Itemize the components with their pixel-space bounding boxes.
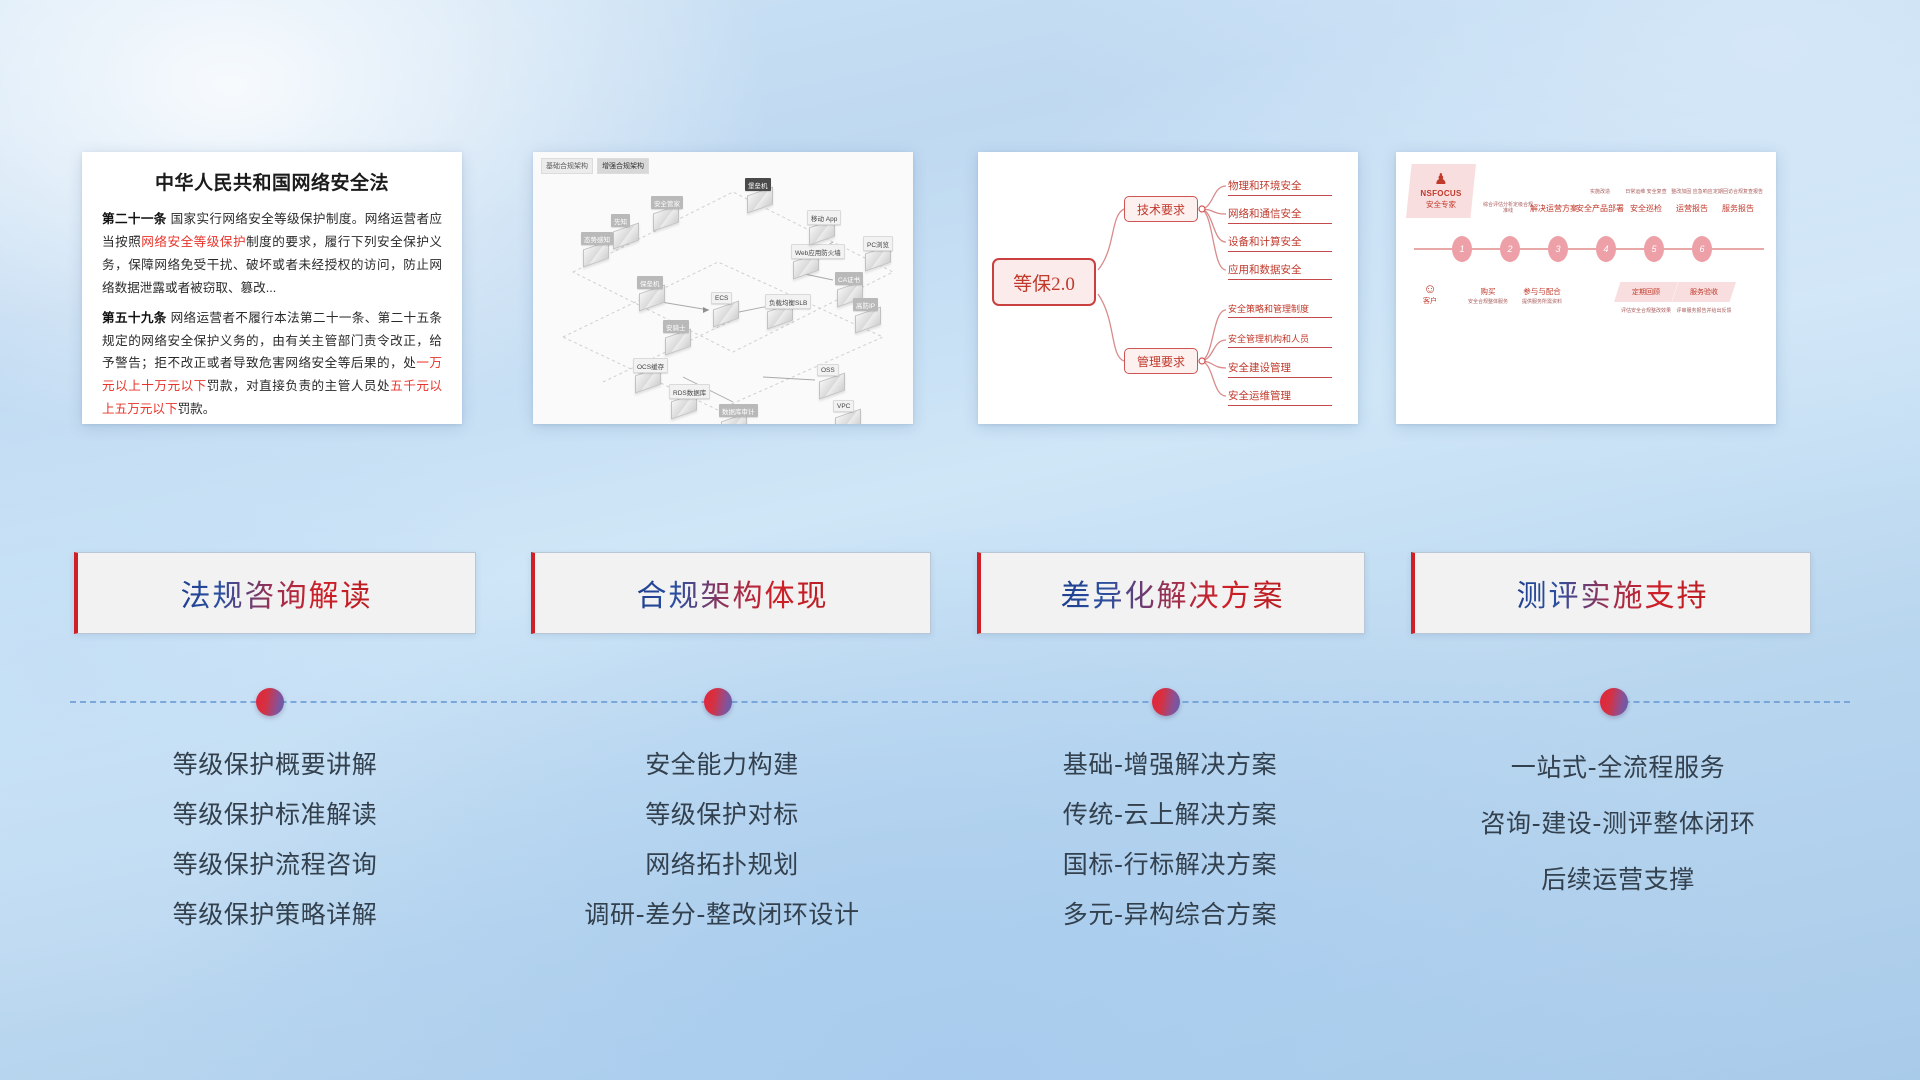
detail-list-1: 等级保护概要讲解等级保护标准解读等级保护流程咨询等级保护策略详解	[65, 740, 485, 940]
section-title-box-1[interactable]: 法规咨询解读	[74, 552, 476, 634]
service-column-caption: 定期回访合规复查报告	[1713, 189, 1763, 195]
mindmap-branch-technical: 技术要求	[1124, 196, 1198, 222]
mindmap-root-node: 等保2.0	[992, 258, 1096, 306]
preview-card-law[interactable]: 中华人民共和国网络安全法 第二十一条 国家实行网络安全等级保护制度。网络运营者应…	[82, 152, 462, 424]
service-top-column: 日常运维 安全复查安全巡检	[1620, 164, 1672, 218]
service-column-caption: 整改加固 应急响应	[1671, 189, 1712, 195]
section-title-2: 合规架构体现	[637, 571, 829, 615]
architecture-node-label: 移动 App	[807, 210, 841, 225]
customer-activity-item: 参与与配合提供服务所需资料	[1510, 286, 1574, 306]
detail-list-item: 等级保护流程咨询	[65, 840, 485, 890]
service-column-caption: 综合评估分析定级合规准线	[1482, 202, 1534, 215]
timeline-dashed-line	[70, 701, 1850, 703]
nsfocus-brand-sub: 安全专家	[1426, 199, 1456, 210]
section-title-1: 法规咨询解读	[181, 571, 373, 615]
detail-list-item: 调研-差分-整改闭环设计	[512, 890, 932, 940]
nsfocus-brand-tag: ♟ NSFOCUS 安全专家	[1406, 164, 1476, 218]
architecture-node-label: PC浏览	[863, 236, 893, 251]
service-step-number[interactable]: 6	[1692, 236, 1712, 262]
service-column-title: 安全产品部署	[1576, 203, 1624, 214]
preview-card-mindmap[interactable]: 等保2.0 技术要求 管理要求 物理和环境安全网络和通信安全设备和计算安全应用和…	[978, 152, 1358, 424]
section-title-box-4[interactable]: 测评实施支持	[1411, 552, 1811, 634]
service-step-number[interactable]: 5	[1644, 236, 1664, 262]
service-top-column: 整改加固 应急响应运营报告	[1666, 164, 1718, 218]
detail-list-item: 等级保护概要讲解	[65, 740, 485, 790]
mindmap-leaf-technical: 物理和环境安全	[1228, 178, 1332, 196]
article-59-mid: 罚款，对直接负责的主管人员处	[207, 379, 390, 393]
article-59-end: 罚款。	[178, 402, 216, 416]
timeline-dot-4[interactable]	[1600, 688, 1628, 716]
detail-list-2: 安全能力构建等级保护对标网络拓扑规划调研-差分-整改闭环设计	[512, 740, 932, 940]
architecture-node-label: 安骑士	[663, 320, 689, 333]
article-21-highlight: 网络安全等级保护	[141, 235, 246, 249]
mindmap-leaf-management: 安全建设管理	[1228, 360, 1332, 378]
service-top-column: 实施改造安全产品部署	[1574, 164, 1626, 218]
service-step-number[interactable]: 1	[1452, 236, 1472, 262]
detail-list-3: 基础-增强解决方案传统-云上解决方案国标-行标解决方案多元-异构综合方案	[960, 740, 1380, 940]
law-article-21: 第二十一条 国家实行网络安全等级保护制度。网络运营者应当按照网络安全等级保护制度…	[102, 208, 442, 300]
detail-list-4: 一站式-全流程服务咨询-建设-测评整体闭环后续运营支撑	[1408, 740, 1828, 908]
service-column-caption: 实施改造	[1590, 189, 1610, 195]
section-title-row: 法规咨询解读 合规架构体现 差异化解决方案 测评实施支持	[0, 552, 1920, 638]
law-title: 中华人民共和国网络安全法	[102, 168, 442, 195]
service-top-band: ♟ NSFOCUS 安全专家 综合评估分析定级合规准线解决运营方案实施改造安全产…	[1406, 164, 1768, 218]
article-21-label: 第二十一条	[102, 212, 167, 226]
law-article-59: 第五十九条 网络运营者不履行本法第二十一条、第二十五条规定的网络安全保护义务的，…	[102, 307, 442, 422]
customer-activity-item: 评估安全合规整改效果	[1614, 306, 1678, 315]
architecture-node-label: OCS缓存	[633, 358, 668, 373]
detail-list-item: 等级保护对标	[512, 790, 932, 840]
architecture-node-label: ECS	[711, 292, 732, 304]
service-step-number[interactable]: 4	[1596, 236, 1616, 262]
timeline-dot-1[interactable]	[256, 688, 284, 716]
detail-list-item: 基础-增强解决方案	[960, 740, 1380, 790]
preview-card-service-timeline[interactable]: ♟ NSFOCUS 安全专家 综合评估分析定级合规准线解决运营方案实施改造安全产…	[1396, 152, 1776, 424]
section-title-3: 差异化解决方案	[1061, 571, 1285, 615]
mindmap-branch-management: 管理要求	[1124, 348, 1198, 374]
architecture-node-label: OSS	[817, 364, 839, 376]
service-timeline: ♟ NSFOCUS 安全专家 综合评估分析定级合规准线解决运营方案实施改造安全产…	[1396, 152, 1776, 424]
architecture-node-label: 保垒机	[637, 276, 663, 289]
customer-activity-item: 评审服务报告并给出反馈	[1672, 306, 1736, 315]
user-icon: ☺	[1423, 282, 1436, 295]
detail-list-item: 后续运营支撑	[1408, 852, 1828, 908]
service-step-number[interactable]: 3	[1548, 236, 1568, 262]
customer-activity-title: 参与与配合	[1510, 286, 1574, 297]
section-title-box-2[interactable]: 合规架构体现	[531, 552, 931, 634]
timeline-dot-3[interactable]	[1152, 688, 1180, 716]
detail-list-item: 多元-异构综合方案	[960, 890, 1380, 940]
architecture-node-label: RDS数据库	[669, 384, 710, 399]
customer-activity-caption: 评审服务报告并给出反馈	[1672, 308, 1736, 315]
law-document: 中华人民共和国网络安全法 第二十一条 国家实行网络安全等级保护制度。网络运营者应…	[82, 152, 462, 424]
preview-card-architecture[interactable]: 基础合规架构 增强合规架构	[533, 152, 913, 424]
architecture-node-label: CA证书	[835, 272, 863, 285]
mindmap-leaf-management: 安全管理机构和人员	[1228, 332, 1332, 348]
architecture-node-label: 堡垒机	[745, 178, 771, 191]
section-title-box-3[interactable]: 差异化解决方案	[977, 552, 1365, 634]
nsfocus-brand: NSFOCUS	[1420, 189, 1461, 198]
timeline	[0, 672, 1920, 732]
detail-list-item: 网络拓扑规划	[512, 840, 932, 890]
detail-list-item: 传统-云上解决方案	[960, 790, 1380, 840]
slide-root: 中华人民共和国网络安全法 第二十一条 国家实行网络安全等级保护制度。网络运营者应…	[0, 0, 1920, 1080]
section-detail-lists: 等级保护概要讲解等级保护标准解读等级保护流程咨询等级保护策略详解 安全能力构建等…	[0, 740, 1920, 960]
service-top-column: 综合评估分析定级合规准线	[1482, 164, 1534, 218]
architecture-node-label: 数据库审计	[719, 404, 758, 417]
architecture-node-label: 负载均衡SLB	[765, 294, 811, 309]
customer-activity-banner: 定期回顾	[1614, 282, 1678, 302]
customer-activity-caption: 评估安全合规整改效果	[1614, 308, 1678, 315]
mindmap-leaf-technical: 网络和通信安全	[1228, 206, 1332, 224]
detail-list-item: 等级保护策略详解	[65, 890, 485, 940]
service-top-column: 定期回访合规复查报告服务报告	[1712, 164, 1764, 218]
service-bottom-band: ☺ 客户 购买安全合规整体服务参与与配合提供服务所需资料定期回顾评估安全合规整改…	[1406, 280, 1768, 336]
service-step-number[interactable]: 2	[1500, 236, 1520, 262]
mindmap-leaf-technical: 应用和数据安全	[1228, 262, 1332, 280]
architecture-node-label: 安全管家	[651, 196, 683, 209]
section-title-4: 测评实施支持	[1517, 571, 1709, 615]
architecture-node-label: VPC	[833, 400, 854, 412]
detail-list-item: 安全能力构建	[512, 740, 932, 790]
service-column-title: 运营报告	[1676, 203, 1708, 214]
customer-activity-caption: 提供服务所需资料	[1510, 299, 1574, 306]
architecture-node-label: 先知	[611, 214, 630, 227]
detail-list-item: 等级保护标准解读	[65, 790, 485, 840]
architecture-diagram: 基础合规架构 增强合规架构	[533, 152, 913, 424]
person-star-icon: ♟	[1434, 172, 1447, 187]
detail-list-item: 一站式-全流程服务	[1408, 740, 1828, 796]
service-column-caption: 日常运维 安全复查	[1625, 189, 1666, 195]
service-column-title: 服务报告	[1722, 203, 1754, 214]
mindmap: 等保2.0 技术要求 管理要求 物理和环境安全网络和通信安全设备和计算安全应用和…	[978, 152, 1358, 424]
article-59-label: 第五十九条	[102, 311, 167, 325]
customer-block: ☺ 客户	[1408, 282, 1452, 306]
preview-cards-row: 中华人民共和国网络安全法 第二十一条 国家实行网络安全等级保护制度。网络运营者应…	[0, 0, 1920, 440]
service-column-title: 解决运营方案	[1530, 203, 1578, 214]
architecture-node-label: 高防IP	[853, 298, 878, 311]
detail-list-item: 国标-行标解决方案	[960, 840, 1380, 890]
service-column-title: 安全巡检	[1630, 203, 1662, 214]
timeline-dot-2[interactable]	[704, 688, 732, 716]
architecture-node-label: 态势感知	[581, 232, 613, 245]
mindmap-leaf-management: 安全策略和管理制度	[1228, 302, 1332, 318]
detail-list-item: 咨询-建设-测评整体闭环	[1408, 796, 1828, 852]
service-top-column: 解决运营方案	[1528, 164, 1580, 218]
customer-label: 客户	[1423, 296, 1437, 306]
architecture-node-label: Web应用防火墙	[791, 244, 845, 259]
mindmap-leaf-technical: 设备和计算安全	[1228, 234, 1332, 252]
mindmap-leaf-management: 安全运维管理	[1228, 388, 1332, 406]
customer-activity-banner: 服务验收	[1672, 282, 1736, 302]
